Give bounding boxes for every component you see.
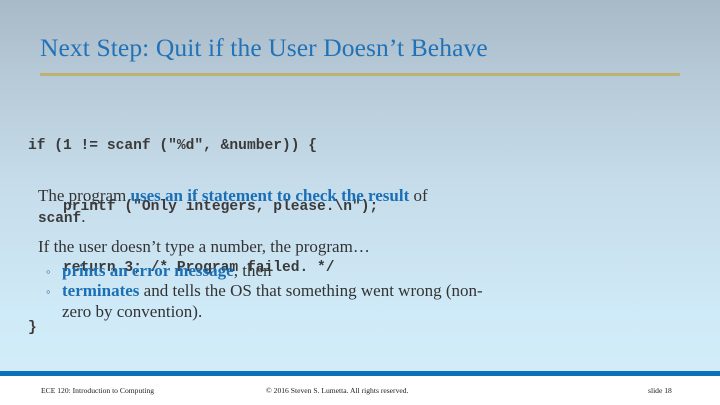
list-item: ◦terminates and tells the OS that someth… [46,281,492,322]
bullet-list: ◦prints an error message, then ◦terminat… [38,261,698,323]
paragraph-text-part1: The program [38,186,131,205]
list-item-emphasis: prints an error message [62,261,234,280]
paragraph-user-behavior: If the user doesn’t type a number, the p… [38,237,698,258]
bullet-marker-icon: ◦ [46,281,51,302]
list-item-emphasis: terminates [62,281,139,300]
body-content: The program uses an if statement to chec… [38,186,698,322]
footer-slide-number: slide 18 [648,386,672,395]
paragraph-code-scanf: scanf [38,211,81,227]
paragraph-emphasis-if-statement: uses an if statement to check the result [131,186,410,205]
bullet-marker-icon: ◦ [46,261,51,282]
code-line-1: if (1 != scanf ("%d", &number)) { [28,136,378,156]
title-divider-rule [40,73,680,76]
footer-copyright: © 2016 Steven S. Lumetta. All rights res… [266,386,408,395]
title-block: Next Step: Quit if the User Doesn’t Beha… [40,33,680,63]
footer-course-name: ECE 120: Introduction to Computing [41,386,154,395]
slide-footer: ECE 120: Introduction to Computing © 201… [0,376,720,405]
page-title: Next Step: Quit if the User Doesn’t Beha… [40,33,680,63]
paragraph-program-description: The program uses an if statement to chec… [38,186,478,229]
paragraph-text-part2: of [409,186,427,205]
paragraph-text-part3: . [81,207,85,226]
list-item-text: , then [234,261,272,280]
slide-canvas: Next Step: Quit if the User Doesn’t Beha… [0,0,720,405]
list-item: ◦prints an error message, then [46,261,492,282]
